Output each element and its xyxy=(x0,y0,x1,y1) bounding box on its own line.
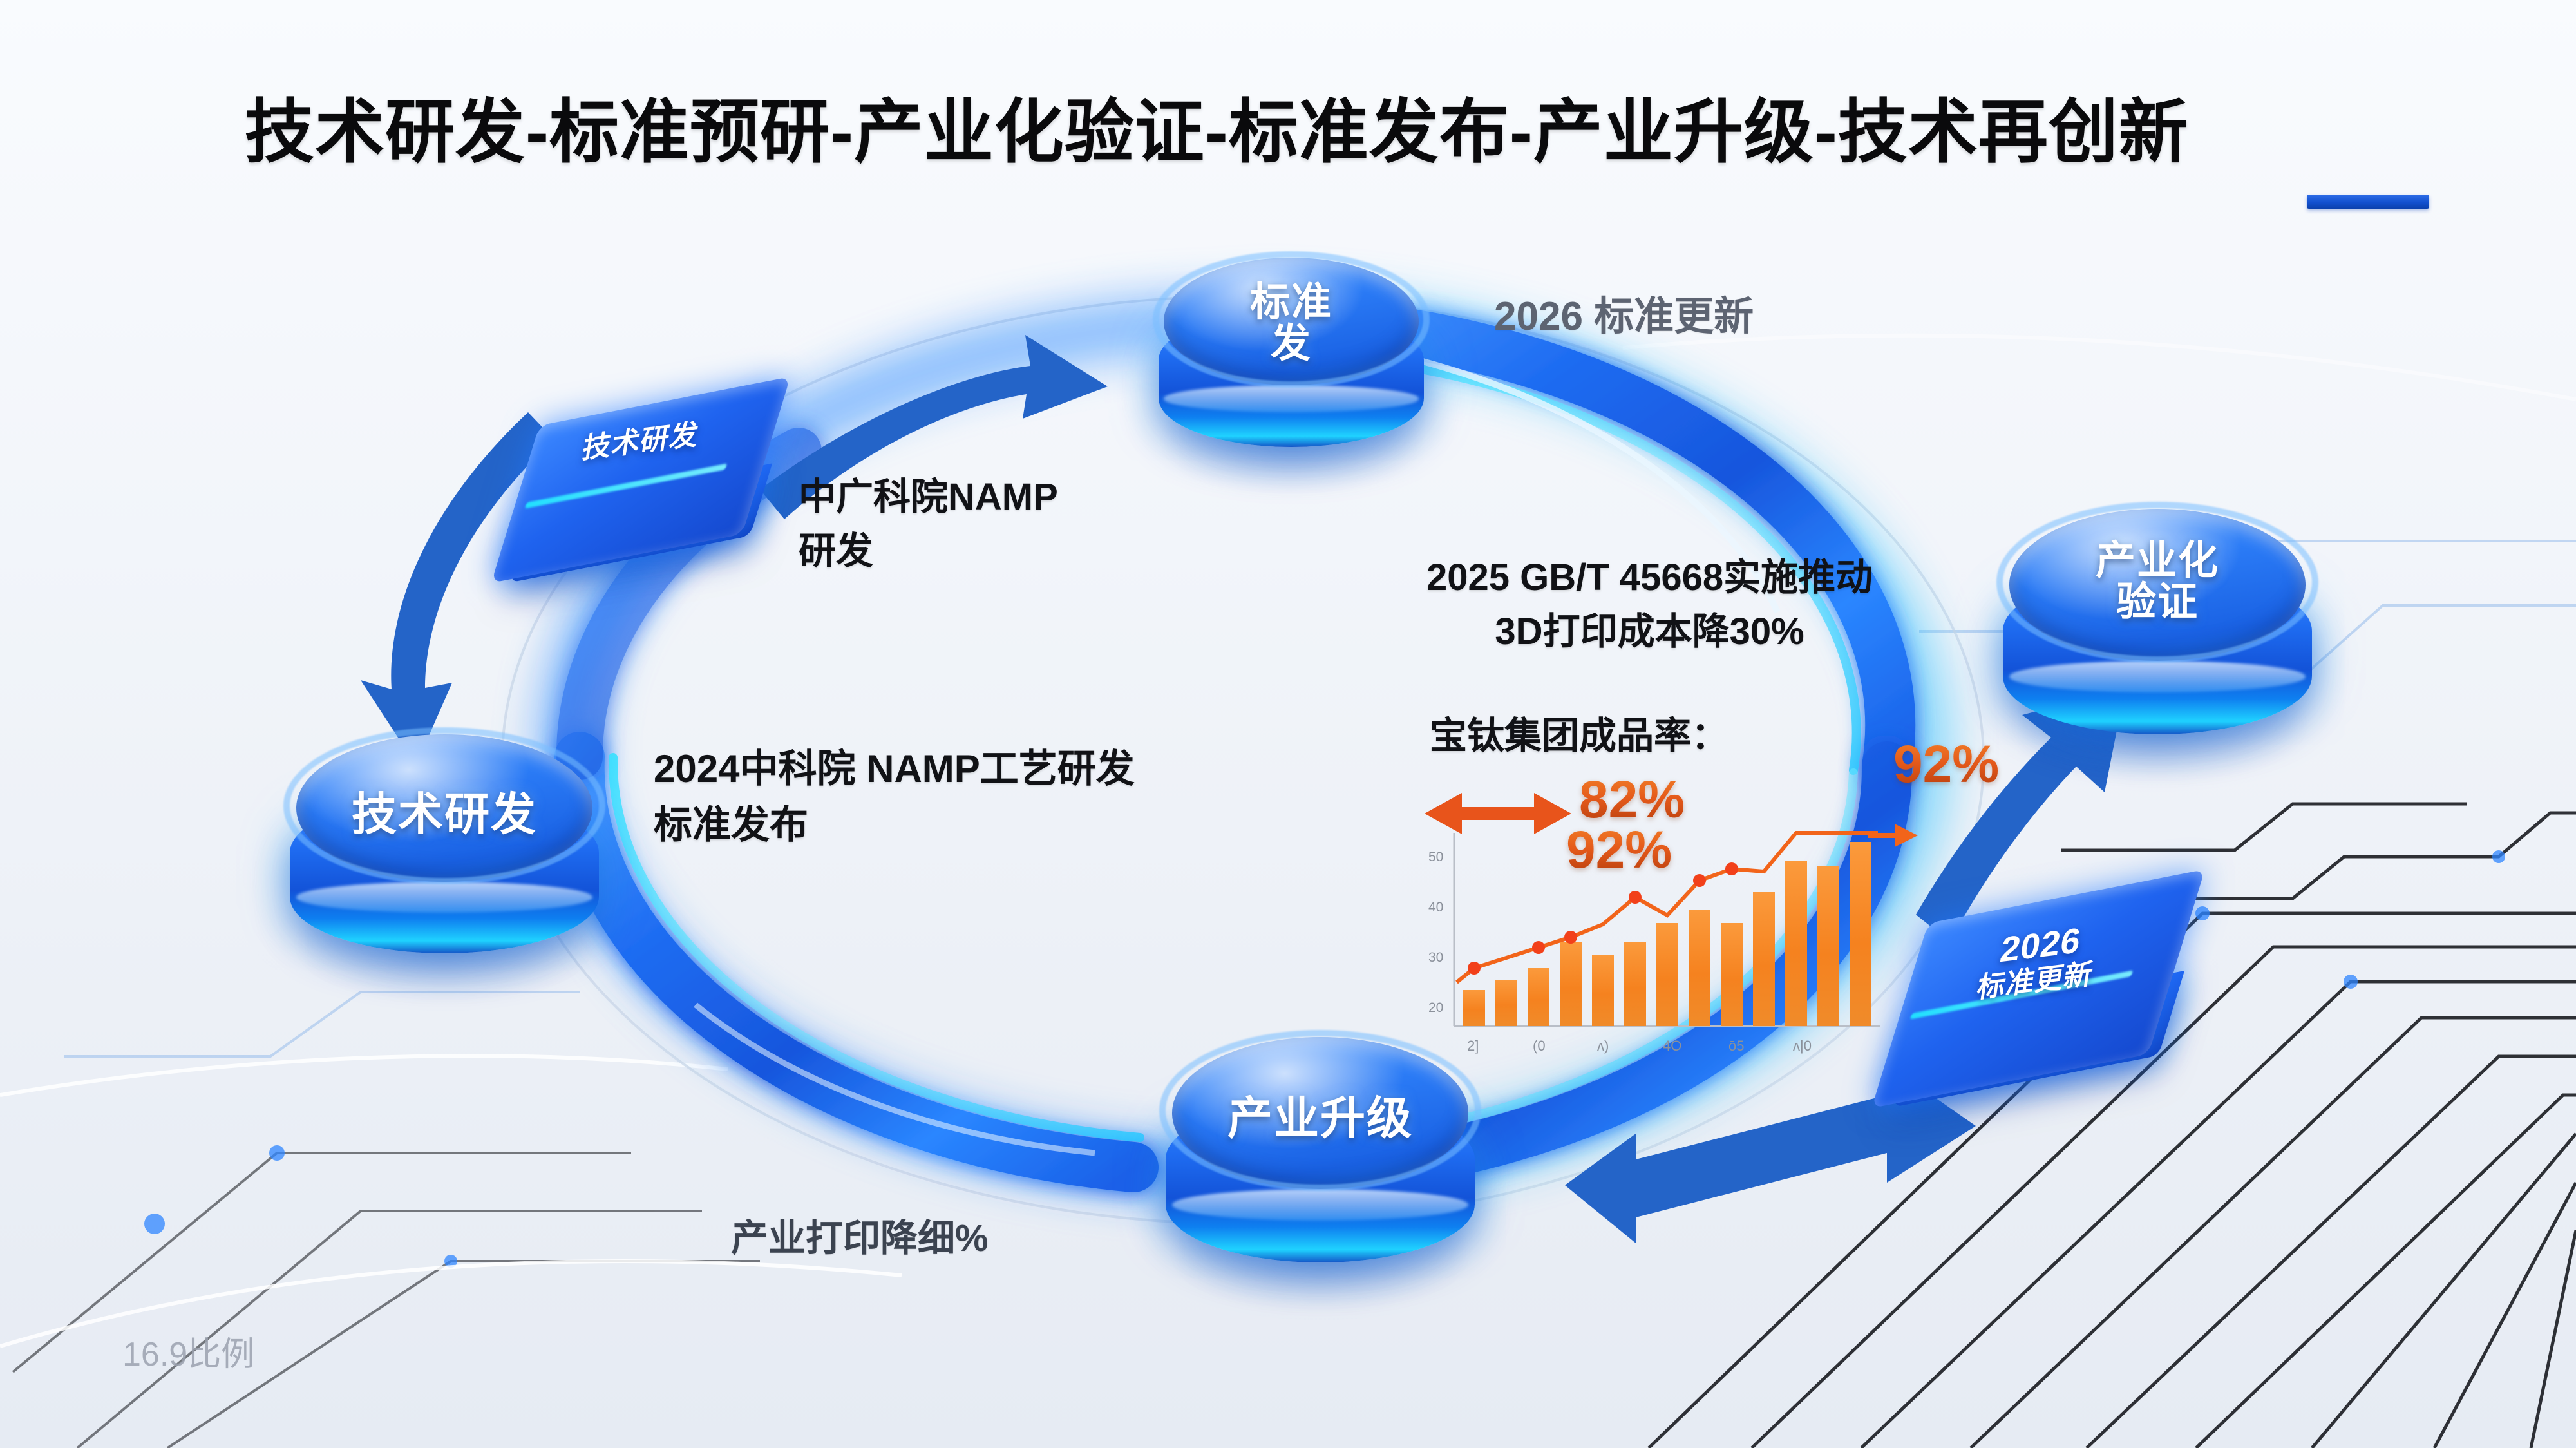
chart-bars xyxy=(1463,842,1871,1026)
svg-text:ʌ): ʌ) xyxy=(1597,1038,1609,1054)
annotation-mid-right: 2025 GB/T 45668实施推动 3D打印成本降30% xyxy=(1426,551,1873,659)
cylinder-rim-light xyxy=(1172,1189,1468,1221)
watermark: 16.9比例 xyxy=(122,1327,254,1375)
x-tick-labels: 2] (0 ʌ) 4O ō5 ʌ|0 xyxy=(1467,1038,1812,1054)
svg-text:ō5: ō5 xyxy=(1728,1038,1744,1054)
chart-title: 宝钛集团成品率： xyxy=(1430,705,1728,759)
annotation-bottom-left: 产业打印降细% xyxy=(731,1208,989,1262)
infographic-canvas: 技术研发-标准预研-产业化验证-标准发布-产业升级-技术再创新 标准 发 技术研… xyxy=(0,0,2576,1448)
svg-text:50: 50 xyxy=(1428,850,1443,864)
svg-text:ʌ|0: ʌ|0 xyxy=(1793,1038,1812,1054)
title-accent-bar xyxy=(2307,195,2429,209)
chart-plot: 50 40 30 20 xyxy=(1417,821,1996,1066)
node-body: 产业升级 xyxy=(1159,1037,1481,1282)
svg-text:(0: (0 xyxy=(1533,1038,1546,1054)
svg-text:20: 20 xyxy=(1428,1000,1443,1015)
page-title: 技术研发-标准预研-产业化验证-标准发布-产业升级-技术再创新 xyxy=(245,76,2189,176)
y-tick-labels: 50 40 30 20 xyxy=(1428,850,1443,1015)
node-standard-release[interactable]: 标准 发 xyxy=(1153,258,1430,464)
cylinder-rim-light xyxy=(2009,661,2306,692)
node-body: 产业化 验证 xyxy=(1996,509,2318,754)
cylinder-outer-ring xyxy=(1996,502,2318,663)
chart-trend-arrowhead xyxy=(1868,824,1918,847)
node-body: 技术研发 xyxy=(283,734,605,973)
node-industry-upgrade[interactable]: 产业升级 xyxy=(1159,1037,1481,1282)
annotation-top-right: 2026 标准更新 xyxy=(1494,283,1754,341)
node-tech-rd-cube[interactable]: 技术研发 xyxy=(515,406,766,554)
annotation-mid-left: 2024中科院 NAMP工艺研发 标准发布 xyxy=(654,741,1135,853)
svg-text:2]: 2] xyxy=(1467,1038,1479,1054)
svg-text:40: 40 xyxy=(1428,900,1443,915)
svg-text:30: 30 xyxy=(1428,950,1443,965)
node-industrial-verification[interactable]: 产业化 验证 xyxy=(1996,509,2318,754)
svg-text:4O: 4O xyxy=(1663,1038,1681,1054)
chart-callout-92-right: 92% xyxy=(1893,734,1999,795)
cylinder-outer-ring xyxy=(1153,251,1430,387)
node-body: 标准 发 xyxy=(1153,258,1430,464)
cylinder-rim-light xyxy=(1164,385,1419,412)
yield-rate-chart: 宝钛集团成品率： 82% 92% 92% 50 40 xyxy=(1417,705,1996,1066)
annotation-cube-left: 中广科院NAMP 研发 xyxy=(799,470,1058,578)
node-tech-rd[interactable]: 技术研发 xyxy=(283,734,605,973)
cylinder-outer-ring xyxy=(283,727,605,884)
